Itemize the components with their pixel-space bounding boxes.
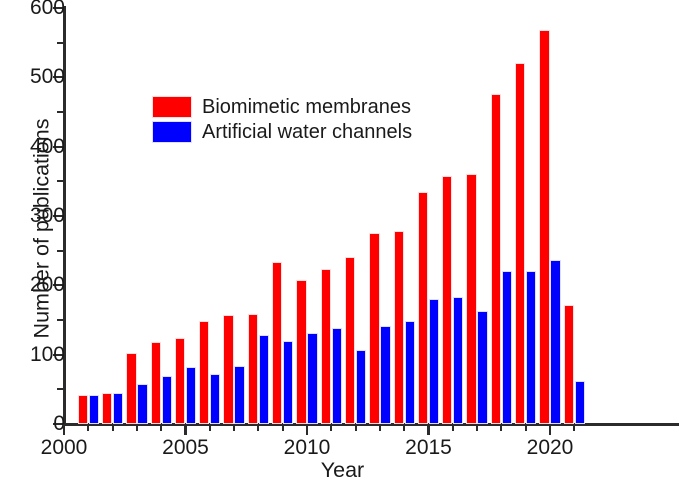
legend-label-biomimetic-membranes: Biomimetic membranes xyxy=(202,97,411,117)
bar-2016-biomimetic-membranes xyxy=(442,176,452,424)
x-tick-label-2015: 2015 xyxy=(369,436,489,460)
plot-area xyxy=(64,8,677,424)
bar-2019-artificial-water-channels xyxy=(526,271,536,424)
y-tick-150 xyxy=(57,319,64,321)
legend-swatch-red-icon xyxy=(152,96,192,118)
bar-2009-biomimetic-membranes xyxy=(272,262,282,424)
bar-2020-artificial-water-channels xyxy=(550,260,560,424)
x-tick-label-2020: 2020 xyxy=(490,436,610,460)
x-tick-2000 xyxy=(63,424,65,435)
y-tick-label-600: 600 xyxy=(0,0,65,20)
x-tick-2019 xyxy=(525,424,527,431)
x-tick-2006 xyxy=(209,424,211,431)
bar-2003-artificial-water-channels xyxy=(137,384,147,424)
legend-item-biomimetic-membranes: Biomimetic membranes xyxy=(152,94,412,119)
y-tick-250 xyxy=(57,250,64,252)
bar-2020-biomimetic-membranes xyxy=(539,30,549,424)
bar-2008-artificial-water-channels xyxy=(259,335,269,424)
x-tick-2004 xyxy=(160,424,162,431)
bar-2015-biomimetic-membranes xyxy=(418,192,428,424)
x-tick-label-2000: 2000 xyxy=(4,436,124,460)
bar-2012-biomimetic-membranes xyxy=(345,257,355,424)
bar-2014-biomimetic-membranes xyxy=(394,231,404,424)
x-tick-2011 xyxy=(330,424,332,431)
bar-2018-biomimetic-membranes xyxy=(491,94,501,424)
x-tick-2014 xyxy=(403,424,405,431)
bar-2005-biomimetic-membranes xyxy=(175,338,185,424)
legend-label-artificial-water-channels: Artificial water channels xyxy=(202,122,412,142)
x-tick-2005 xyxy=(184,424,186,435)
bar-2010-artificial-water-channels xyxy=(307,333,317,424)
bar-2002-artificial-water-channels xyxy=(113,393,123,424)
x-tick-2009 xyxy=(282,424,284,431)
x-tick-2012 xyxy=(355,424,357,431)
x-tick-2001 xyxy=(87,424,89,431)
bar-2002-biomimetic-membranes xyxy=(102,393,112,424)
x-tick-2010 xyxy=(306,424,308,435)
bar-2004-artificial-water-channels xyxy=(162,376,172,424)
x-tick-2015 xyxy=(427,424,429,435)
bar-2014-artificial-water-channels xyxy=(405,321,415,424)
bar-2017-biomimetic-membranes xyxy=(466,174,476,424)
bar-2013-biomimetic-membranes xyxy=(369,233,379,424)
x-tick-2017 xyxy=(476,424,478,431)
bar-2015-artificial-water-channels xyxy=(429,299,439,424)
bar-2001-artificial-water-channels xyxy=(89,395,99,424)
y-tick-550 xyxy=(57,42,64,44)
x-tick-2018 xyxy=(500,424,502,431)
bar-2011-biomimetic-membranes xyxy=(321,269,331,424)
bar-2017-artificial-water-channels xyxy=(477,311,487,424)
bar-2011-artificial-water-channels xyxy=(332,328,342,424)
x-tick-label-2005: 2005 xyxy=(126,436,246,460)
bar-2021-biomimetic-membranes xyxy=(564,305,574,424)
bar-2006-artificial-water-channels xyxy=(210,374,220,424)
bar-2016-artificial-water-channels xyxy=(453,297,463,424)
x-axis-title: Year xyxy=(0,458,685,482)
bar-2007-artificial-water-channels xyxy=(234,366,244,424)
bar-2001-biomimetic-membranes xyxy=(78,395,88,424)
x-tick-2016 xyxy=(452,424,454,431)
bar-2008-biomimetic-membranes xyxy=(248,314,258,424)
bar-2005-artificial-water-channels xyxy=(186,367,196,424)
y-tick-350 xyxy=(57,180,64,182)
y-axis-title: Number of publications xyxy=(30,19,55,439)
x-tick-2002 xyxy=(112,424,114,431)
bar-2007-biomimetic-membranes xyxy=(223,315,233,424)
bar-2013-artificial-water-channels xyxy=(380,326,390,424)
bar-2010-biomimetic-membranes xyxy=(296,280,306,424)
x-tick-2020 xyxy=(549,424,551,435)
x-tick-2007 xyxy=(233,424,235,431)
bar-2019-biomimetic-membranes xyxy=(515,63,525,424)
legend-item-artificial-water-channels: Artificial water channels xyxy=(152,119,412,144)
x-tick-2008 xyxy=(257,424,259,431)
y-tick-450 xyxy=(57,111,64,113)
x-tick-label-2010: 2010 xyxy=(247,436,367,460)
y-tick-50 xyxy=(57,388,64,390)
legend-swatch-blue-icon xyxy=(152,121,192,143)
x-tick-2013 xyxy=(379,424,381,431)
bar-2018-artificial-water-channels xyxy=(502,271,512,424)
bar-2021-artificial-water-channels xyxy=(575,381,585,424)
x-tick-2021 xyxy=(573,424,575,431)
bar-2012-artificial-water-channels xyxy=(356,350,366,424)
bar-2004-biomimetic-membranes xyxy=(151,342,161,424)
chart-legend: Biomimetic membranes Artificial water ch… xyxy=(152,94,412,144)
x-tick-2003 xyxy=(136,424,138,431)
publications-bar-chart: 0100200300400500600 20002005201020152020… xyxy=(0,0,685,482)
bar-2006-biomimetic-membranes xyxy=(199,321,209,424)
bar-2009-artificial-water-channels xyxy=(283,341,293,424)
bar-2003-biomimetic-membranes xyxy=(126,353,136,424)
